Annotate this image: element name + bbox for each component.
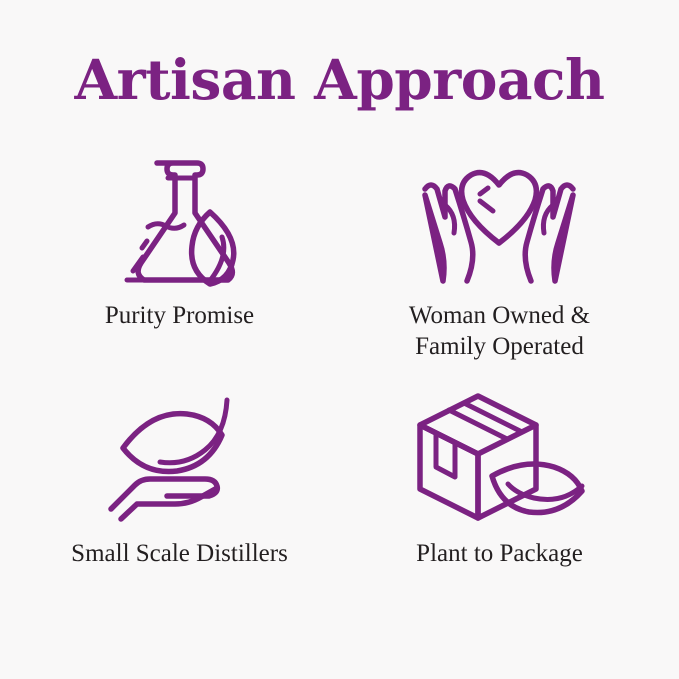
flask-leaf-icon (105, 147, 255, 287)
feature-label: Purity Promise (105, 301, 254, 332)
feature-label: Plant to Package (416, 539, 583, 570)
feature-small-scale-distillers: Small Scale Distillers (20, 389, 340, 631)
page-title: Artisan Approach (74, 52, 604, 107)
feature-label: Woman Owned & Family Operated (409, 301, 590, 362)
feature-label: Small Scale Distillers (71, 539, 288, 570)
hands-heart-icon (412, 147, 587, 287)
feature-plant-to-package: Plant to Package (340, 389, 660, 631)
box-leaf-icon (412, 389, 587, 525)
features-grid: Purity Promise (20, 147, 660, 631)
feature-woman-owned: Woman Owned & Family Operated (340, 147, 660, 389)
feature-purity-promise: Purity Promise (20, 147, 340, 389)
artisan-approach-panel: Artisan Approach (0, 0, 679, 679)
leaf-hand-icon (105, 389, 255, 525)
